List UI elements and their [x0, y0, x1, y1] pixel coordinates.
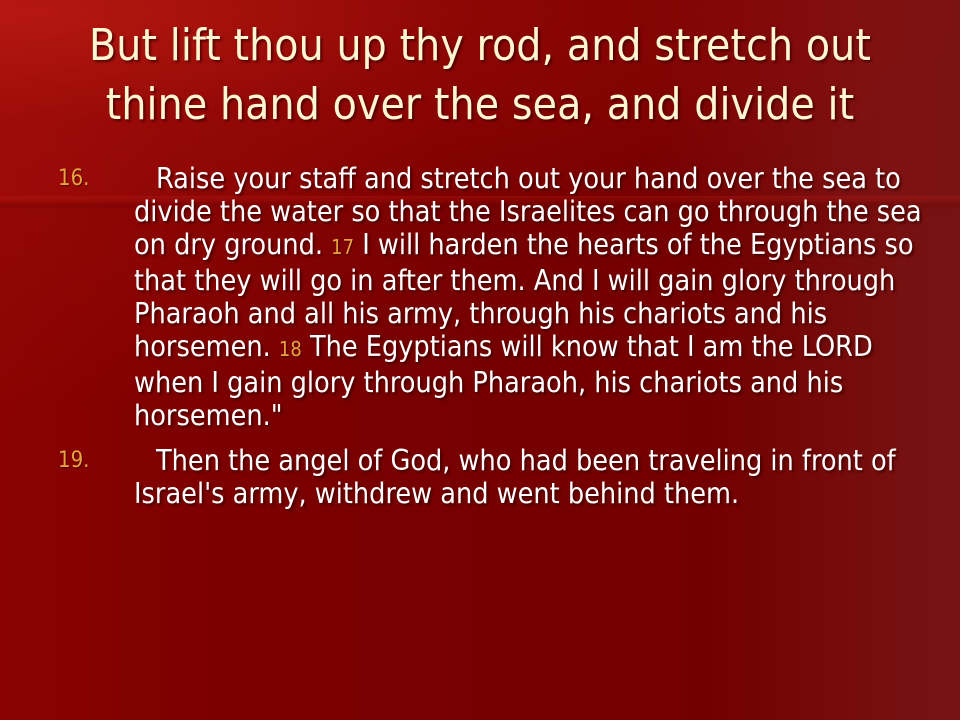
- slide-body: 16.Raise your staff and stretch out your…: [44, 162, 924, 522]
- list-item-text: Then the angel of God, who had been trav…: [134, 444, 924, 510]
- slide-title: But lift thou up thy rod, and stretch ou…: [12, 16, 948, 135]
- verse-number: 18: [279, 337, 302, 361]
- presentation-slide: But lift thou up thy rod, and stretch ou…: [0, 0, 960, 720]
- list-item: 19.Then the angel of God, who had been t…: [44, 444, 924, 510]
- numbered-list: 16.Raise your staff and stretch out your…: [44, 162, 924, 510]
- list-item-marker: 16.: [58, 166, 120, 191]
- list-item: 16.Raise your staff and stretch out your…: [44, 162, 924, 432]
- verse-number: 17: [331, 235, 354, 259]
- body-text-run: Then the angel of God, who had been trav…: [134, 444, 896, 510]
- list-item-marker: 19.: [58, 448, 120, 473]
- list-item-text: Raise your staff and stretch out your ha…: [134, 162, 924, 432]
- slide-title-text: But lift thou up thy rod, and stretch ou…: [12, 16, 948, 135]
